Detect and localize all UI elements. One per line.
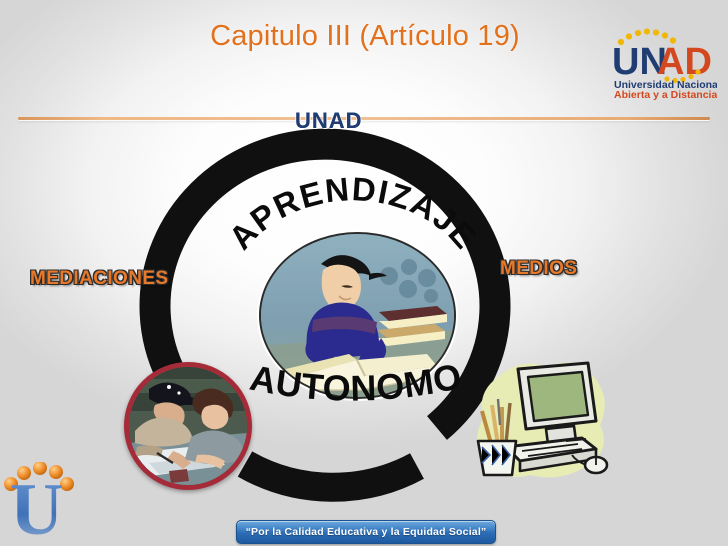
svg-text:Abierta y a Distancia: Abierta y a Distancia — [614, 89, 717, 100]
diagram-top-label-unad: UNAD — [295, 108, 363, 134]
photo-tutor-and-student — [124, 362, 252, 490]
wordart-aprendizaje: APRENDIZAJE — [222, 178, 484, 288]
header-divider — [18, 117, 710, 120]
clipart-desktop-computer — [470, 355, 610, 485]
page-title: Capitulo III (Artículo 19) — [150, 20, 580, 53]
diagram-label-medios: MEDIOS — [500, 258, 577, 280]
wordart-aprendizaje-text: APRENDIZAJE — [221, 170, 484, 256]
diagram-label-mediaciones: MEDIACIONES — [30, 268, 168, 290]
watermark-letter: U — [10, 469, 63, 546]
slide-canvas: Capitulo III (Artículo 19) UN AD Univers… — [0, 0, 728, 546]
wordart-autonomo: AUTONOMO — [238, 368, 474, 424]
footer-text: “Por la Calidad Educativa y la Equidad S… — [246, 526, 487, 538]
unad-logo: UN AD Universidad Nacional Abierta y a D… — [595, 22, 717, 100]
footer-banner: “Por la Calidad Educativa y la Equidad S… — [236, 520, 496, 544]
unad-watermark-u: U — [4, 462, 100, 546]
svg-text:APRENDIZAJE: APRENDIZAJE — [221, 170, 484, 256]
svg-text:AD: AD — [657, 41, 712, 83]
